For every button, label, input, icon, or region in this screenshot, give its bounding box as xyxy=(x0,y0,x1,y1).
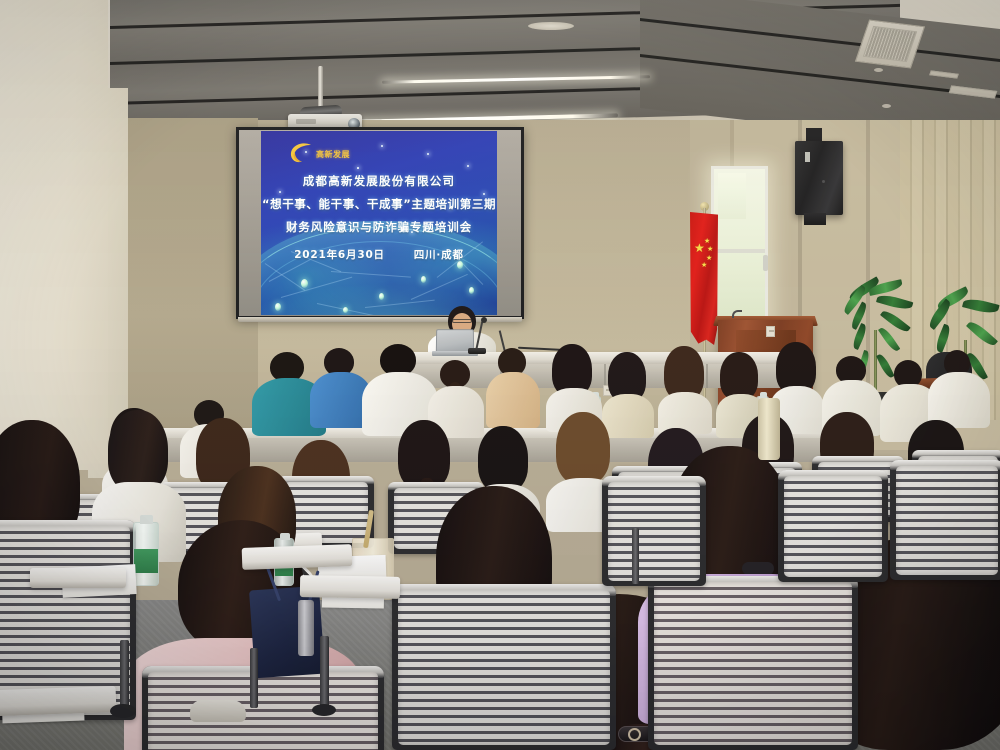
water-bottle-foreground xyxy=(133,522,159,586)
hair-tie-ring-icon xyxy=(628,728,641,741)
projector-label xyxy=(296,119,316,124)
slide-node xyxy=(301,279,308,288)
slide-node xyxy=(421,276,426,283)
slide-node xyxy=(457,261,463,269)
chair-leg xyxy=(632,528,639,584)
chair-leg xyxy=(250,648,258,708)
chair-leg xyxy=(120,640,129,708)
crescent-swoosh-icon xyxy=(289,142,315,164)
flag-star-small: ★ xyxy=(707,246,713,253)
slide-title-block: 成都高新发展股份有限公司 “想干事、能干事、干成事”主题培训第三期 财务风险意识… xyxy=(261,173,497,235)
slide-node xyxy=(379,293,384,300)
microphone-base xyxy=(468,348,486,354)
chair-foot xyxy=(312,704,336,716)
projection-screen: 高新发展 成都高新发展股份有限公司 “想干事、能干事、干成事”主题培训第三期 财… xyxy=(236,127,524,319)
slide-node xyxy=(469,287,474,294)
window xyxy=(711,166,768,326)
podium-microphone-icon xyxy=(732,310,742,318)
chair-tablet-arm[interactable] xyxy=(30,568,126,588)
slide-node xyxy=(343,307,348,313)
flag-star-small: ★ xyxy=(706,255,712,262)
chair-tablet-arm[interactable] xyxy=(300,575,400,599)
left-column xyxy=(0,0,108,470)
chair-leg xyxy=(320,636,329,708)
flag-star-small: ★ xyxy=(701,262,707,269)
ceiling-spotlight-1 xyxy=(874,68,883,72)
slide-date-location: 2021年6月30日 四川·成都 xyxy=(261,247,497,262)
slide-location: 四川·成都 xyxy=(414,249,464,261)
chair-foreground[interactable] xyxy=(142,666,384,750)
slide-date: 2021年6月30日 xyxy=(294,249,385,261)
chair[interactable] xyxy=(778,470,888,582)
presentation-slide: 高新发展 成都高新发展股份有限公司 “想干事、能干事、干成事”主题培训第三期 财… xyxy=(261,131,497,315)
slide-subject-title: 财务风险意识与防诈骗专题培训会 xyxy=(261,219,497,235)
ceiling-downlight xyxy=(528,22,574,30)
chair-tablet-arm[interactable] xyxy=(242,544,353,570)
window-shade xyxy=(718,173,746,219)
window-handle[interactable] xyxy=(763,255,768,271)
chair-tablet-arm[interactable] xyxy=(0,686,116,716)
slide-node xyxy=(275,303,281,311)
presenter-glasses-icon xyxy=(452,319,472,323)
wall-speaker xyxy=(795,141,843,215)
chair-foreground[interactable] xyxy=(648,576,858,750)
handbag-hardware-icon xyxy=(298,600,314,656)
speaker-base xyxy=(804,213,826,225)
logo-text: 高新发展 xyxy=(316,149,350,160)
ceiling-spotlight-2 xyxy=(882,104,891,108)
shoe xyxy=(190,700,246,722)
company-logo: 高新发展 xyxy=(289,142,359,164)
window-rail xyxy=(714,249,765,253)
thermos-bottle xyxy=(758,398,780,460)
conference-room-photo: 高新发展 成都高新发展股份有限公司 “想干事、能干事、干成事”主题培训第三期 财… xyxy=(0,0,1000,750)
chair-foreground[interactable] xyxy=(392,584,616,750)
slide-theme-title: “想干事、能干事、干成事”主题培训第三期 xyxy=(261,196,497,212)
screen-surface: 高新发展 成都高新发展股份有限公司 “想干事、能干事、干成事”主题培训第三期 财… xyxy=(239,130,521,316)
chair[interactable] xyxy=(890,460,1000,580)
flag-star-small: ★ xyxy=(704,238,710,245)
speaker-led-icon xyxy=(805,152,810,162)
speaker-bracket xyxy=(806,128,822,142)
chair[interactable] xyxy=(602,476,706,586)
wall-outlet-2[interactable] xyxy=(766,326,775,337)
chair-foot xyxy=(110,704,136,718)
speaker-driver-icon xyxy=(822,180,825,183)
slide-company-name: 成都高新发展股份有限公司 xyxy=(261,173,497,189)
microphone-head-icon xyxy=(481,317,487,323)
